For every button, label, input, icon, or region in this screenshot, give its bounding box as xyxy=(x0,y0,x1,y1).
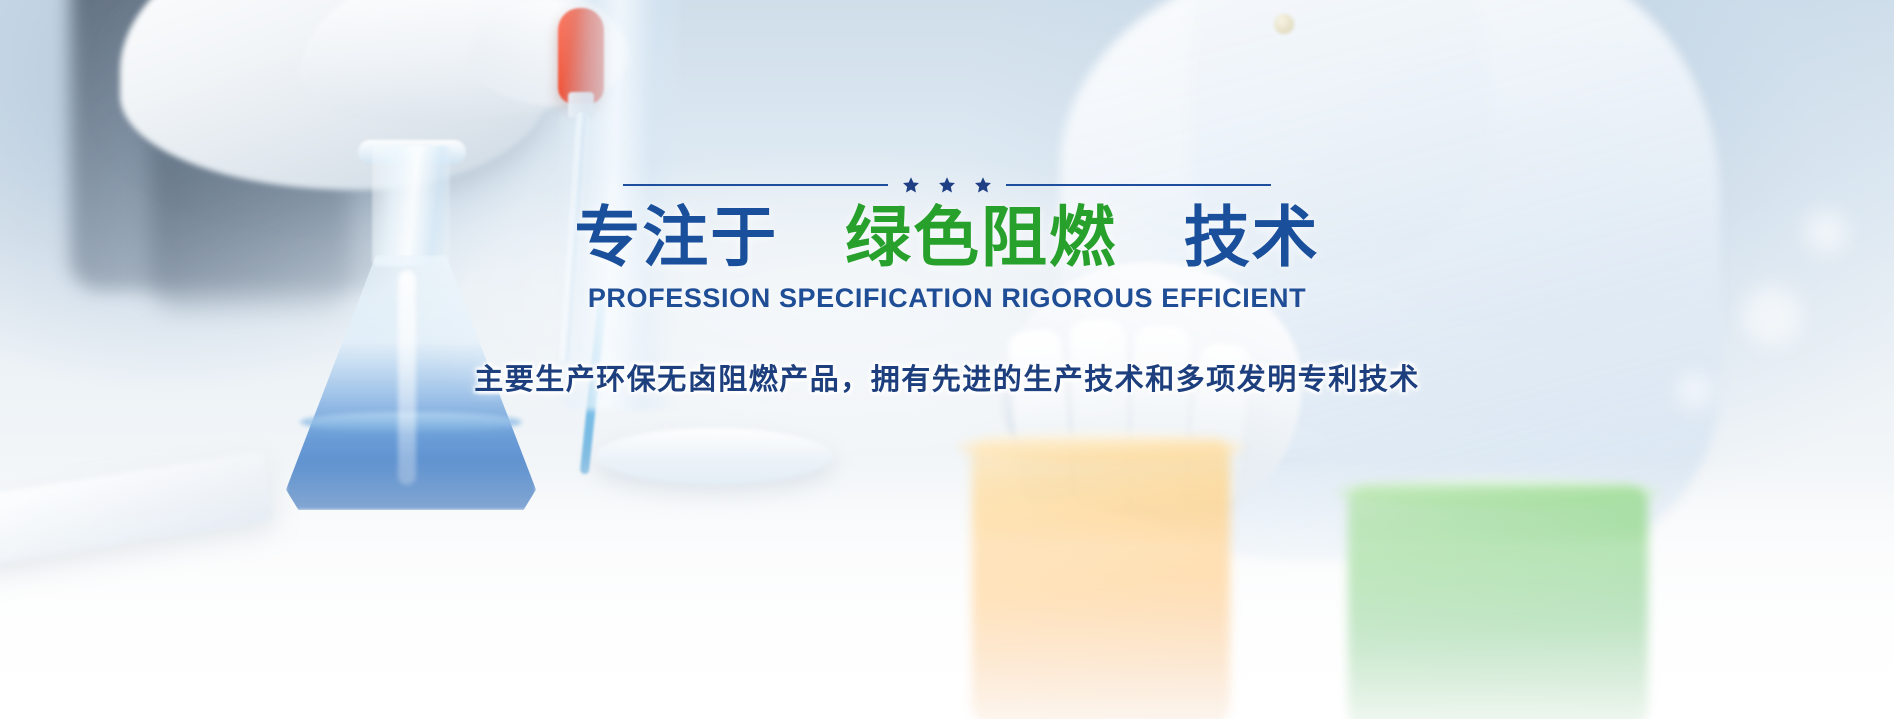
headline: 专注于 绿色阻燃 技术 xyxy=(574,202,1319,273)
divider-rule-right xyxy=(1006,184,1271,186)
headline-part-3: 技术 xyxy=(1184,200,1320,274)
star-icon xyxy=(974,176,992,194)
english-tagline: PROFESSION SPECIFICATION RIGOROUS EFFICI… xyxy=(588,283,1306,314)
star-icon xyxy=(938,176,956,194)
divider-rule-left xyxy=(623,184,888,186)
headline-part-2: 绿色阻燃 xyxy=(845,200,1117,274)
star-icon xyxy=(902,176,920,194)
hero-banner: 专注于 绿色阻燃 技术 PROFESSION SPECIFICATION RIG… xyxy=(0,0,1894,719)
description-text: 主要生产环保无卤阻燃产品，拥有先进的生产技术和多项发明专利技术 xyxy=(474,356,1420,398)
banner-content: 专注于 绿色阻燃 技术 PROFESSION SPECIFICATION RIG… xyxy=(0,0,1894,719)
divider-stars xyxy=(902,176,992,194)
decorative-divider xyxy=(623,176,1271,194)
headline-part-1: 专注于 xyxy=(574,200,778,274)
